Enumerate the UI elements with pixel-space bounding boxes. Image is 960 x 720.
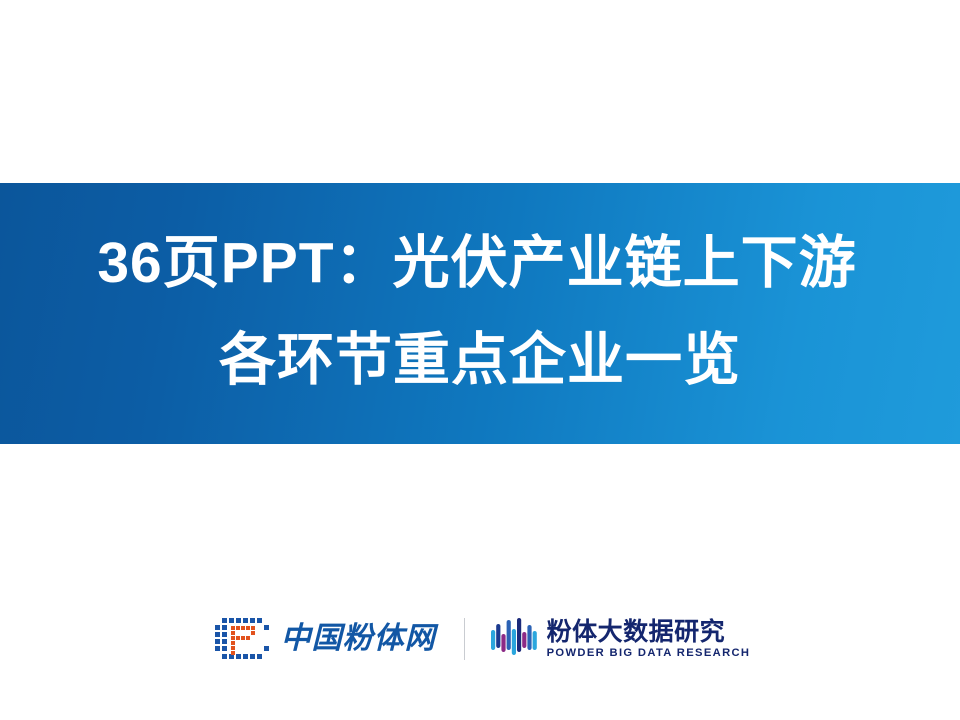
- powder-big-data-logo: 粉体大数据研究 POWDER BIG DATA RESEARCH: [491, 616, 751, 662]
- logo-divider: [464, 618, 465, 660]
- presentation-slide: 36页PPT：光伏产业链上下游 各环节重点企业一览: [0, 0, 960, 720]
- title-banner: 36页PPT：光伏产业链上下游 各环节重点企业一览: [0, 183, 960, 444]
- china-powder-wordmark: 中国粉体网: [281, 624, 436, 654]
- slide-title-line-1: 36页PPT：光伏产业链上下游: [97, 235, 856, 292]
- china-powder-logo: 中国粉体网: [210, 616, 436, 662]
- powder-big-data-title-en: POWDER BIG DATA RESEARCH: [547, 647, 751, 659]
- slide-title-line-2: 各环节重点企业一览: [219, 332, 741, 389]
- powder-pixel-c-mark-icon: [210, 616, 272, 662]
- bar-chart-mark-icon: [491, 616, 537, 662]
- footer-logo-bar: 中国粉体网 粉体大数据研究 POWDER BIG: [0, 607, 960, 671]
- powder-big-data-text-block: 粉体大数据研究 POWDER BIG DATA RESEARCH: [547, 619, 751, 660]
- powder-big-data-title-cn: 粉体大数据研究: [547, 619, 751, 646]
